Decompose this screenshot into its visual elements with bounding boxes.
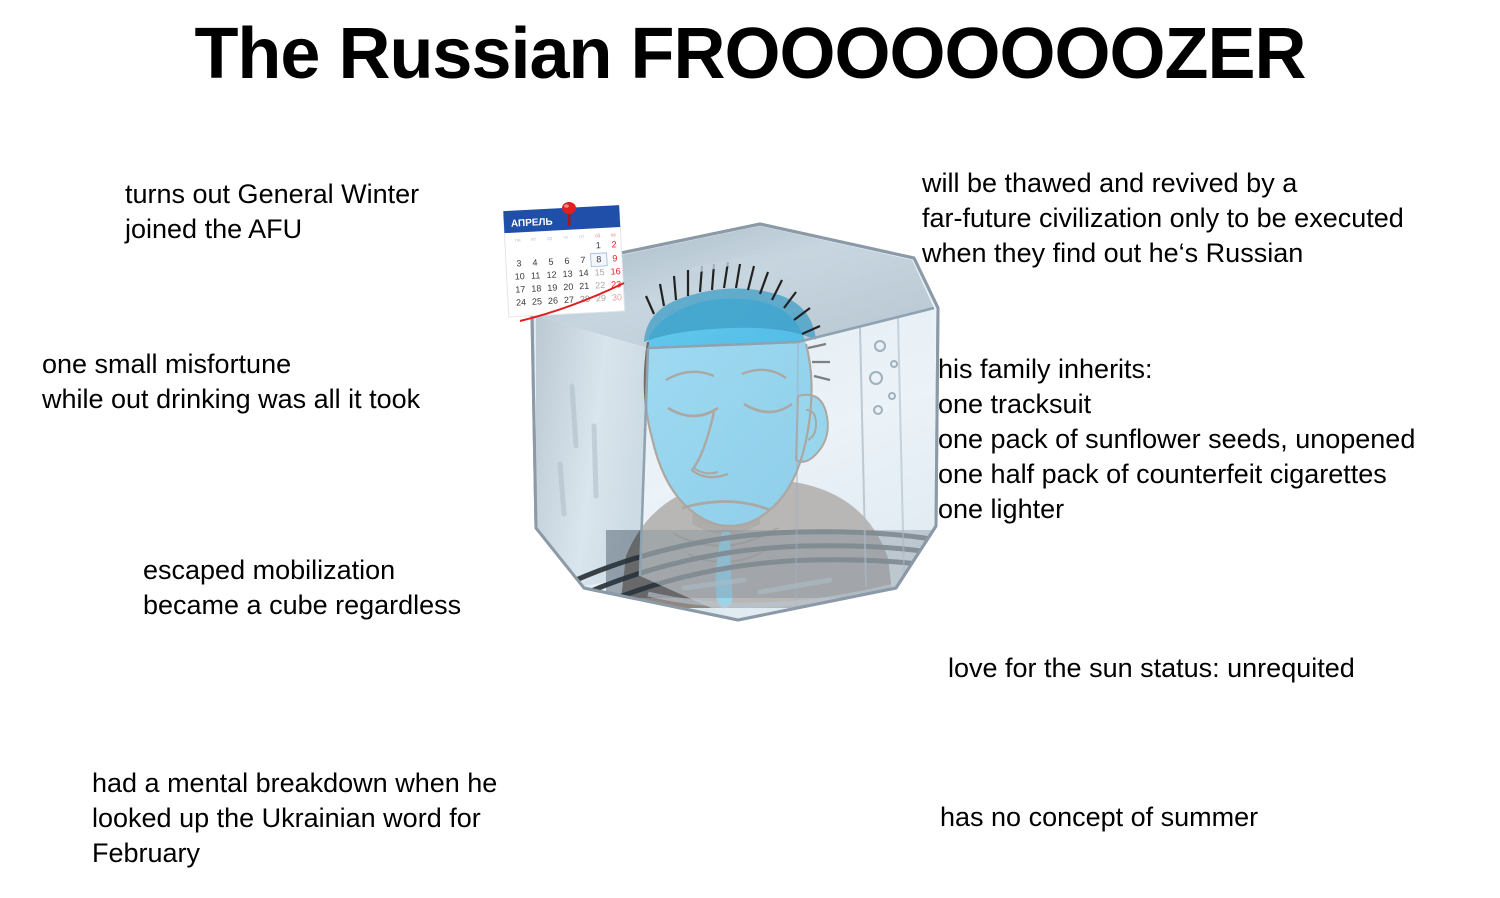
svg-text:15: 15	[594, 267, 605, 278]
svg-text:30: 30	[612, 292, 623, 303]
svg-text:19: 19	[547, 282, 558, 293]
svg-text:4: 4	[532, 257, 538, 267]
svg-text:5: 5	[548, 257, 554, 267]
svg-text:3: 3	[516, 258, 522, 268]
svg-text:7: 7	[580, 255, 586, 265]
svg-text:21: 21	[579, 281, 590, 292]
svg-text:25: 25	[532, 296, 543, 307]
svg-text:14: 14	[578, 268, 589, 279]
svg-text:12: 12	[546, 269, 557, 280]
caption-sun-status: love for the sun status: unrequited	[948, 651, 1355, 686]
svg-text:11: 11	[531, 270, 541, 280]
svg-text:16: 16	[610, 266, 621, 277]
page-title: The Russian FROOOOOOOOZER	[0, 12, 1500, 96]
svg-text:6: 6	[564, 256, 570, 266]
svg-text:22: 22	[595, 280, 606, 291]
caption-mental-breakdown: had a mental breakdown when he looked up…	[92, 766, 497, 871]
svg-text:вс: вс	[611, 232, 617, 238]
april-calendar: АПРЕЛЬ пнвтср чтпт сбвс 12 345 67 89	[500, 200, 630, 325]
caption-thawed-revived: will be thawed and revived by a far-futu…	[922, 166, 1404, 271]
svg-text:17: 17	[515, 284, 526, 295]
caption-escaped-mobilization: escaped mobilization became a cube regar…	[143, 553, 461, 623]
svg-text:10: 10	[514, 271, 525, 282]
svg-text:ср: ср	[547, 236, 553, 242]
svg-text:1: 1	[595, 240, 601, 250]
svg-text:сб: сб	[595, 233, 601, 239]
svg-text:8: 8	[596, 254, 602, 264]
svg-text:20: 20	[563, 282, 574, 293]
svg-text:18: 18	[531, 283, 542, 294]
caption-small-misfortune: one small misfortune while out drinking …	[42, 347, 420, 417]
meme-canvas: The Russian FROOOOOOOOZER	[0, 0, 1500, 898]
svg-text:2: 2	[611, 239, 617, 249]
svg-text:13: 13	[562, 269, 573, 280]
svg-text:27: 27	[564, 295, 575, 306]
svg-text:26: 26	[548, 295, 559, 306]
caption-no-summer: has no concept of summer	[940, 800, 1258, 835]
svg-text:24: 24	[516, 297, 527, 308]
caption-family-inherits: his family inherits: one tracksuit one p…	[938, 352, 1415, 527]
svg-text:9: 9	[612, 253, 618, 263]
svg-text:пн: пн	[515, 237, 521, 243]
calendar-month-label: АПРЕЛЬ	[511, 217, 553, 230]
caption-general-winter: turns out General Winter joined the AFU	[125, 177, 419, 247]
